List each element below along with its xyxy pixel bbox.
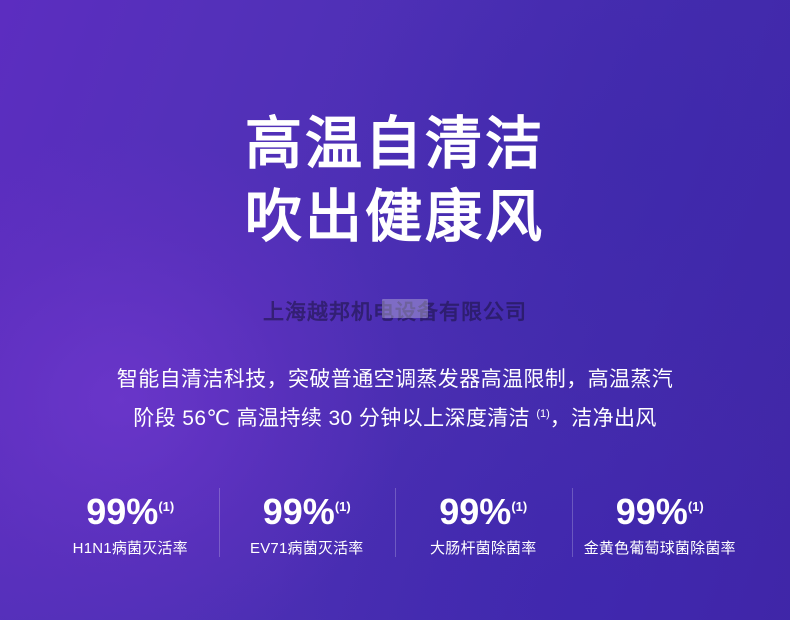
promo-poster: 高温自清洁 吹出健康风 上海越邦机电设备有限公司 智能自清洁科技，突破普通空调蒸… [0,0,790,620]
body-copy-line-2-text: 阶段 56℃ 高温持续 30 分钟以上深度清洁 [133,407,536,430]
stat-number: 99% [86,491,158,532]
body-copy-line-2-tail: ，洁净出风 [550,407,657,430]
stat-footnote-marker: (1) [688,499,704,514]
stat-number: 99% [616,491,688,532]
stat-number: 99% [439,491,511,532]
stat-item: 99%(1) 金黄色葡萄球菌除菌率 [572,484,749,559]
stat-item: 99%(1) 大肠杆菌除菌率 [395,484,572,559]
stat-footnote-marker: (1) [335,499,351,514]
body-copy-line-1: 智能自清洁科技，突破普通空调蒸发器高温限制，高温蒸汽 [55,362,735,397]
stat-label: H1N1病菌灭活率 [46,539,215,559]
body-copy-footnote-marker: (1) [536,408,549,420]
stat-footnote-marker: (1) [158,499,174,514]
stat-value: 99%(1) [46,484,215,535]
stat-footnote-marker: (1) [511,499,527,514]
stat-value: 99%(1) [223,484,392,535]
stat-value: 99%(1) [576,484,745,535]
stats-row: 99%(1) H1N1病菌灭活率 99%(1) EV71病菌灭活率 99%(1)… [42,484,748,559]
company-watermark: 上海越邦机电设备有限公司 [0,296,790,326]
stat-item: 99%(1) EV71病菌灭活率 [219,484,396,559]
stat-item: 99%(1) H1N1病菌灭活率 [42,484,219,559]
headline-line-2: 吹出健康风 [0,181,790,254]
stat-label: 大肠杆菌除菌率 [399,539,568,559]
body-copy: 智能自清洁科技，突破普通空调蒸发器高温限制，高温蒸汽 阶段 56℃ 高温持续 3… [55,362,735,436]
stat-number: 99% [263,491,335,532]
headline-line-1: 高温自清洁 [0,108,790,181]
body-copy-line-2: 阶段 56℃ 高温持续 30 分钟以上深度清洁 (1)，洁净出风 [55,397,735,436]
stat-label: 金黄色葡萄球菌除菌率 [576,539,745,559]
headline: 高温自清洁 吹出健康风 [0,108,790,254]
stat-label: EV71病菌灭活率 [223,539,392,559]
stat-value: 99%(1) [399,484,568,535]
